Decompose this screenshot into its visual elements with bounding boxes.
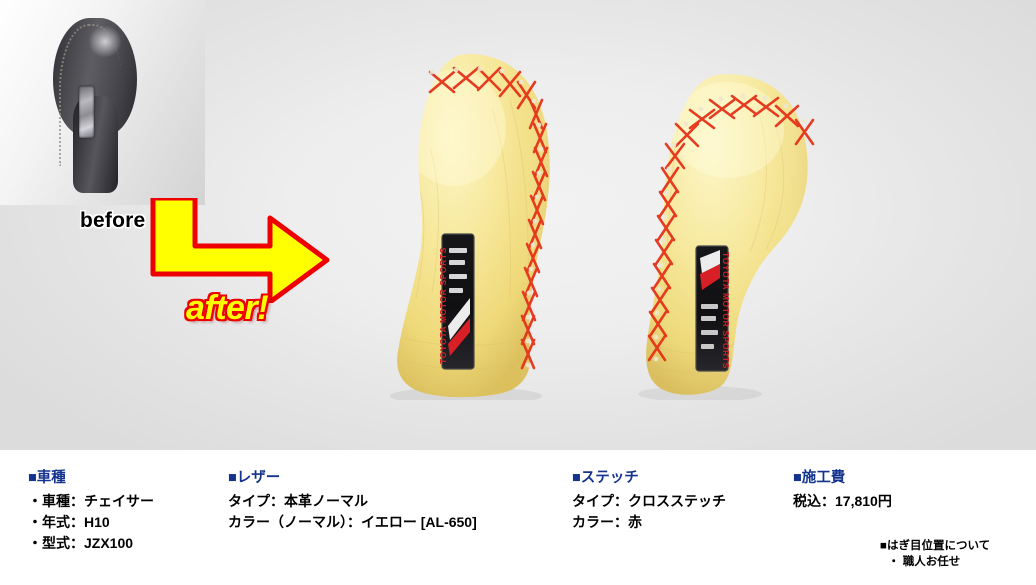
trd-badge: TOYOTA MOTOR SPORTS <box>438 234 474 369</box>
spec-heading-vehicle: ■車種 <box>28 468 154 488</box>
elbow-arrow-right-icon <box>150 198 330 303</box>
before-label: before <box>80 209 145 233</box>
spec-column-leather: ■レザー タイプ：本革ノーマル カラー（ノーマル）：イエロー [AL-650] <box>228 468 477 533</box>
svg-text:TOYOTA MOTOR SPORTS: TOYOTA MOTOR SPORTS <box>721 252 731 369</box>
spec-heading-stitch: ■ステッチ <box>572 468 726 488</box>
hero-photo-stage: before after! <box>0 0 1036 450</box>
trd-badge: TOYOTA MOTOR SPORTS <box>696 246 731 371</box>
after-knob-side-image: TOYOTA MOTOR SPORTS <box>608 68 840 400</box>
spec-heading-price: ■施工費 <box>793 468 892 488</box>
spec-vehicle-model: ・車種：チェイサー <box>28 491 154 512</box>
after-label: after! <box>186 289 268 328</box>
spec-price-total: 税込：17,810円 <box>793 491 892 512</box>
before-knob-image <box>53 18 137 193</box>
spec-leather-color: カラー（ノーマル）：イエロー [AL-650] <box>228 512 477 533</box>
seam-note-line: ・ 職人お任せ <box>880 554 990 570</box>
spec-vehicle-chassis: ・型式：JZX100 <box>28 533 154 554</box>
spec-column-stitch: ■ステッチ タイプ：クロスステッチ カラー：赤 <box>572 468 726 533</box>
before-knob-badge <box>79 86 94 138</box>
spec-column-vehicle: ■車種 ・車種：チェイサー ・年式：H10 ・型式：JZX100 <box>28 468 154 554</box>
before-thumbnail <box>0 0 205 205</box>
spec-stitch-type: タイプ：クロスステッチ <box>572 491 726 512</box>
after-knob-front-image: TOYOTA MOTOR SPORTS <box>342 48 594 400</box>
spec-stitch-color: カラー：赤 <box>572 512 726 533</box>
spec-heading-leather: ■レザー <box>228 468 477 488</box>
spec-vehicle-year: ・年式：H10 <box>28 512 154 533</box>
spec-leather-type: タイプ：本革ノーマル <box>228 491 477 512</box>
seam-note: ■はぎ目位置について ・ 職人お任せ <box>880 538 990 570</box>
spec-column-price: ■施工費 税込：17,810円 <box>793 468 892 512</box>
svg-text:TOYOTA MOTOR SPORTS: TOYOTA MOTOR SPORTS <box>438 247 448 364</box>
seam-note-heading: ■はぎ目位置について <box>880 538 990 554</box>
